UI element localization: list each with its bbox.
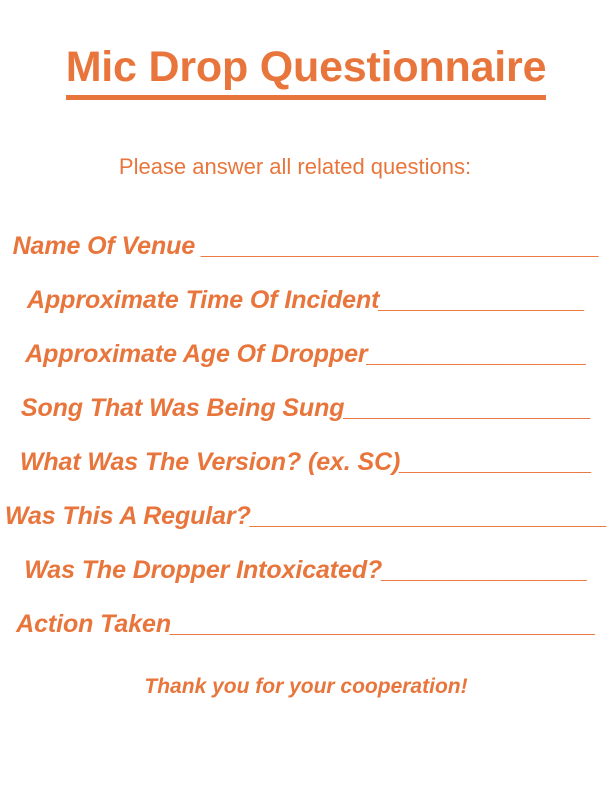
footer-container: Thank you for your cooperation! bbox=[0, 673, 612, 700]
instructions-text: Please answer all related questions: bbox=[119, 153, 471, 182]
question-label: Approximate Time Of Incident bbox=[27, 286, 379, 314]
answer-blank-field[interactable]: _______________ bbox=[379, 286, 585, 314]
question-line-was-this-a-regular: Was This A Regular?_____________________… bbox=[5, 489, 607, 543]
question-list: Name Of Venue __________________________… bbox=[0, 219, 612, 651]
question-line-song-that-was-being-sung: Song That Was Being Sung________________… bbox=[21, 381, 591, 435]
question-row: Song That Was Being Sung________________… bbox=[0, 381, 612, 435]
question-row: Approximate Age Of Dropper______________… bbox=[0, 327, 612, 381]
page-title: Mic Drop Questionnaire bbox=[66, 44, 547, 100]
page-title-container: Mic Drop Questionnaire bbox=[0, 44, 612, 100]
question-row: What Was The Version? (ex. SC)__________… bbox=[0, 435, 612, 489]
answer-blank-field[interactable]: ________________ bbox=[368, 340, 587, 368]
thank-you-text: Thank you for your cooperation! bbox=[144, 673, 467, 700]
question-label: Was The Dropper Intoxicated? bbox=[24, 556, 382, 584]
question-row: Name Of Venue __________________________… bbox=[0, 219, 612, 273]
question-label: Action Taken bbox=[16, 610, 171, 638]
answer-blank-field[interactable]: _____________________________ bbox=[202, 232, 599, 260]
question-row: Action Taken____________________________… bbox=[0, 597, 612, 651]
question-line-approximate-time-of-incident: Approximate Time Of Incident____________… bbox=[27, 273, 585, 327]
answer-blank-field[interactable]: __________________ bbox=[344, 394, 591, 422]
question-label: Song That Was Being Sung bbox=[21, 394, 345, 422]
question-label: Approximate Age Of Dropper bbox=[25, 340, 367, 368]
instructions-container: Please answer all related questions: bbox=[0, 153, 612, 182]
question-row: Was The Dropper Intoxicated?____________… bbox=[0, 543, 612, 597]
question-line-action-taken: Action Taken____________________________… bbox=[16, 597, 596, 651]
question-label: Name Of Venue bbox=[13, 232, 202, 260]
answer-blank-field[interactable]: __________________________ bbox=[251, 502, 607, 530]
question-label: Was This A Regular? bbox=[5, 502, 251, 530]
question-row: Approximate Time Of Incident____________… bbox=[0, 273, 612, 327]
questionnaire-page: Mic Drop Questionnaire Please answer all… bbox=[0, 0, 612, 792]
answer-blank-field[interactable]: _______________ bbox=[382, 556, 588, 584]
question-label: What Was The Version? (ex. SC) bbox=[20, 448, 400, 476]
question-line-what-was-the-version: What Was The Version? (ex. SC)__________… bbox=[20, 435, 592, 489]
question-row: Was This A Regular?_____________________… bbox=[0, 489, 612, 543]
question-line-name-of-venue: Name Of Venue __________________________… bbox=[13, 219, 600, 273]
answer-blank-field[interactable]: _______________________________ bbox=[171, 610, 596, 638]
question-line-was-the-dropper-intoxicated: Was The Dropper Intoxicated?____________… bbox=[24, 543, 587, 597]
answer-blank-field[interactable]: ______________ bbox=[400, 448, 592, 476]
question-line-approximate-age-of-dropper: Approximate Age Of Dropper______________… bbox=[25, 327, 587, 381]
